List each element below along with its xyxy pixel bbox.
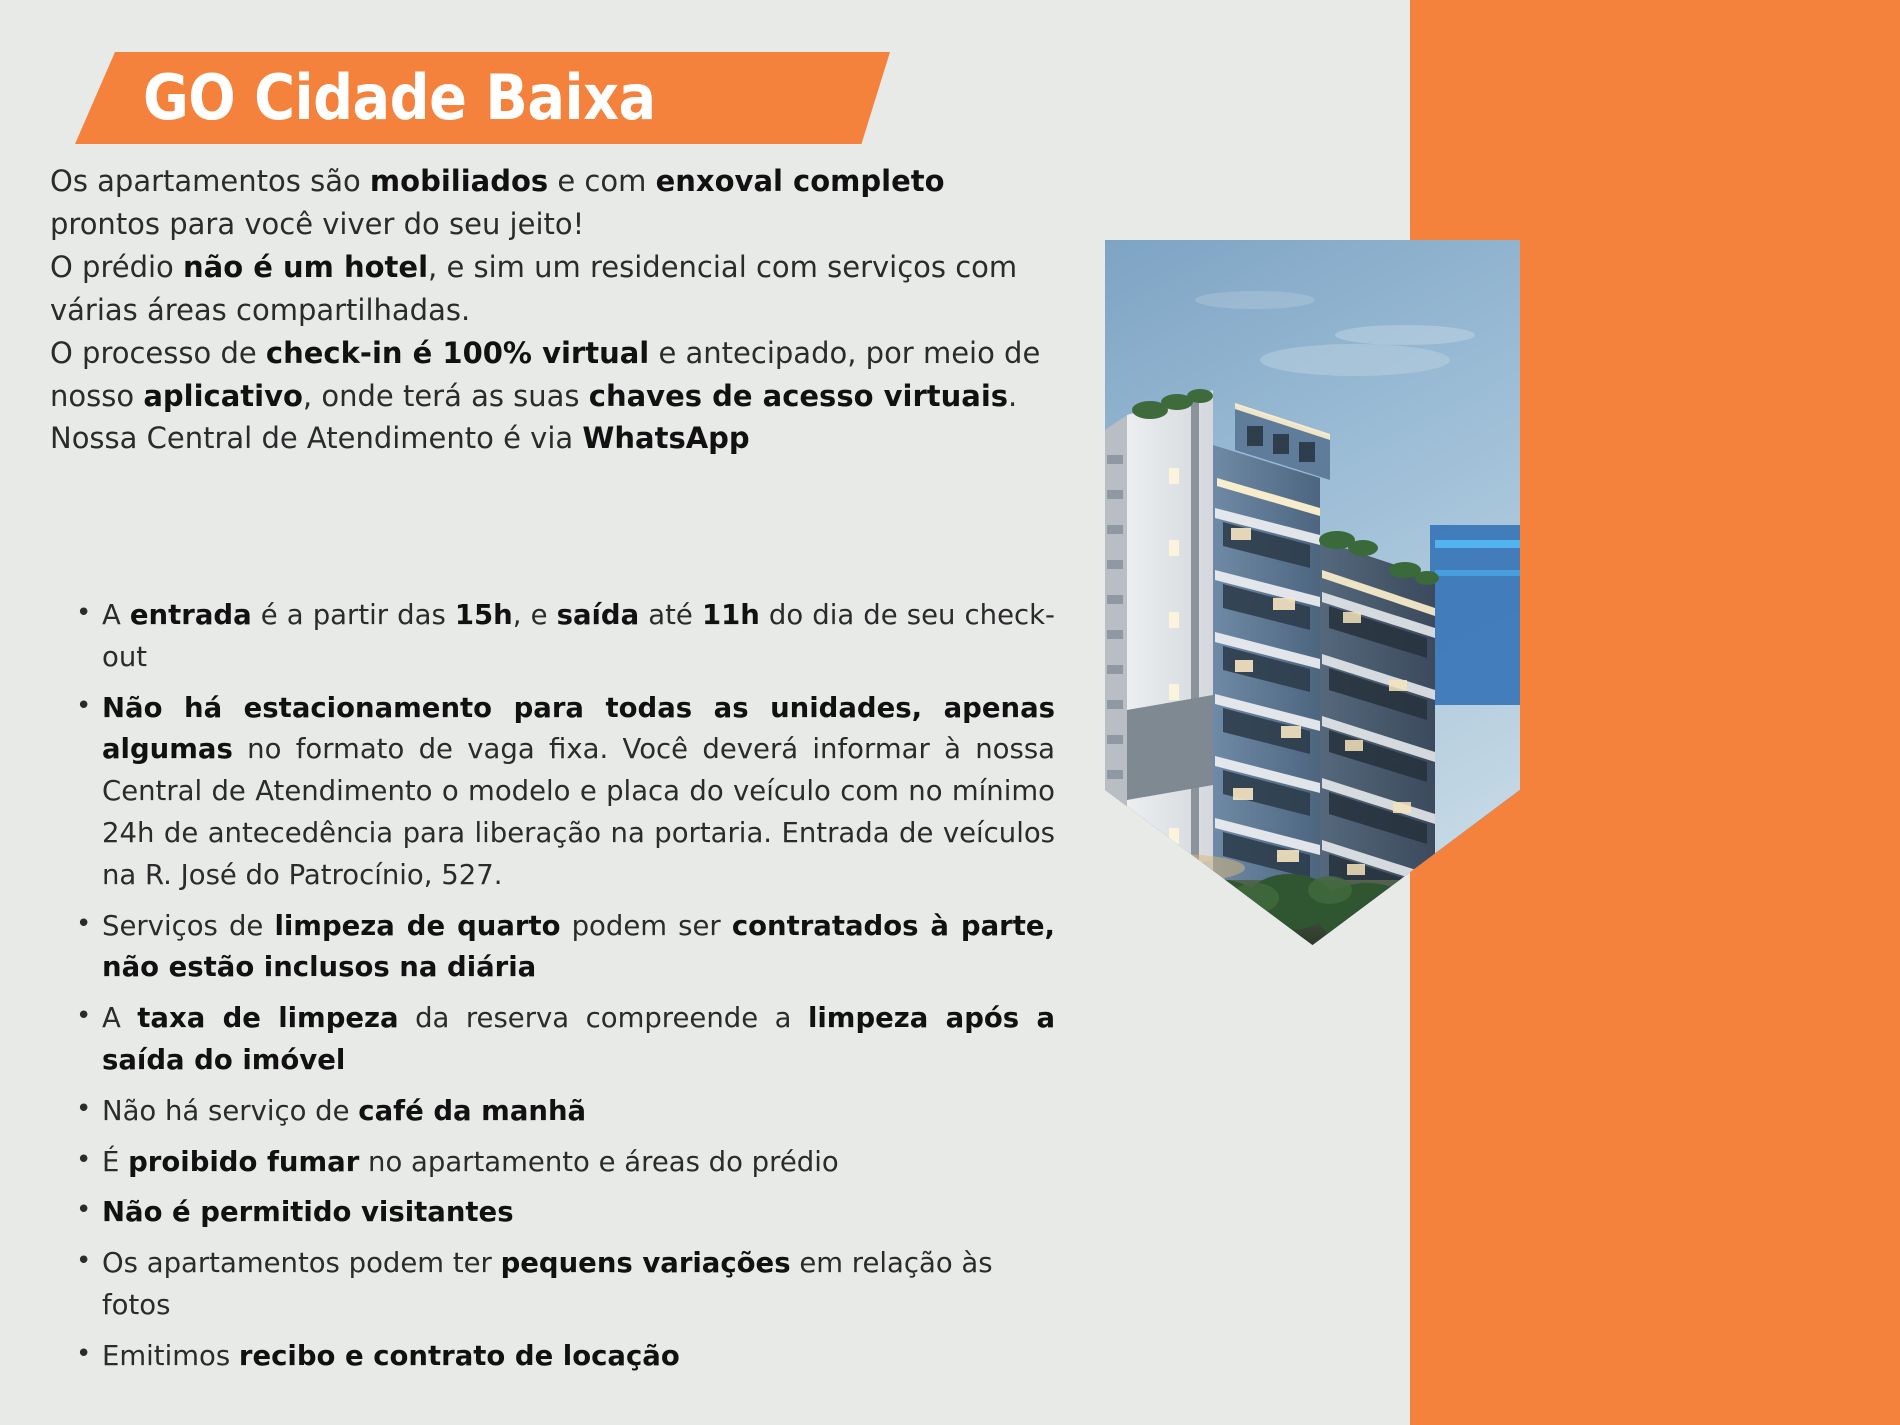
rules-list: A entrada é a partir das 15h, e saída at… (70, 595, 1055, 1387)
rule-list-item: Emitimos recibo e contrato de locação (70, 1336, 1055, 1378)
emphasis-text: chaves de acesso virtuais (589, 379, 1008, 413)
body-text: É (102, 1146, 128, 1178)
body-text: até (639, 599, 702, 631)
emphasis-text: enxoval completo (656, 164, 945, 198)
emphasis-text: WhatsApp (582, 421, 749, 455)
emphasis-text: Não é permitido visitantes (102, 1196, 514, 1228)
emphasis-text: mobiliados (370, 164, 548, 198)
rule-list-item: A entrada é a partir das 15h, e saída at… (70, 595, 1055, 679)
emphasis-text: proibido fumar (128, 1146, 359, 1178)
emphasis-text: não é um hotel (183, 250, 428, 284)
emphasis-text: pequens variações (501, 1247, 791, 1279)
emphasis-text: 15h (455, 599, 513, 631)
body-text: é a partir das (252, 599, 455, 631)
body-text: Emitimos (102, 1340, 239, 1372)
emphasis-text: entrada (130, 599, 252, 631)
body-text: e com (548, 164, 655, 198)
emphasis-text: check-in é 100% virtual (266, 336, 649, 370)
rule-list-item: É proibido fumar no apartamento e áreas … (70, 1142, 1055, 1184)
body-text: A (102, 1002, 137, 1034)
intro-text-block: Os apartamentos são mobiliados e com enx… (50, 160, 1050, 460)
body-text: A (102, 599, 130, 631)
body-text: O prédio (50, 250, 183, 284)
body-text: no apartamento e áreas do prédio (359, 1146, 838, 1178)
body-text: , e (513, 599, 557, 631)
body-text: Os apartamentos são (50, 164, 370, 198)
emphasis-text: recibo e contrato de locação (239, 1340, 680, 1372)
intro-paragraph: Os apartamentos são mobiliados e com enx… (50, 160, 1050, 246)
body-text: O processo de (50, 336, 266, 370)
poster-page: GO Cidade Baixa Os apartamentos são mobi… (0, 0, 1900, 1425)
intro-paragraph: O processo de check-in é 100% virtual e … (50, 332, 1050, 418)
body-text: Serviços de (102, 910, 274, 942)
emphasis-text: taxa de limpeza (137, 1002, 398, 1034)
emphasis-text: 11h (702, 599, 760, 631)
body-text: Nossa Central de Atendimento é via (50, 421, 582, 455)
rule-list-item: Serviços de limpeza de quarto podem ser … (70, 906, 1055, 990)
body-text: prontos para você viver do seu jeito! (50, 207, 584, 241)
body-text: , onde terá as suas (303, 379, 589, 413)
rule-list-item: Não é permitido visitantes (70, 1192, 1055, 1234)
body-text: no formato de vaga fixa. Você deverá inf… (102, 733, 1055, 890)
emphasis-text: aplicativo (143, 379, 303, 413)
emphasis-text: saída (557, 599, 640, 631)
intro-paragraph: O prédio não é um hotel, e sim um reside… (50, 246, 1050, 332)
rule-list-item: Os apartamentos podem ter pequens variaç… (70, 1243, 1055, 1327)
intro-paragraph: Nossa Central de Atendimento é via Whats… (50, 417, 1050, 460)
rule-list-item: Não há serviço de café da manhã (70, 1091, 1055, 1133)
body-text: da reserva compreende a (399, 1002, 808, 1034)
body-text: Não há serviço de (102, 1095, 358, 1127)
body-text: Os apartamentos podem ter (102, 1247, 501, 1279)
rule-list-item: A taxa de limpeza da reserva compreende … (70, 998, 1055, 1082)
body-text: . (1008, 379, 1017, 413)
rule-list-item: Não há estacionamento para todas as unid… (70, 688, 1055, 897)
emphasis-text: limpeza de quarto (274, 910, 560, 942)
page-title: GO Cidade Baixa (143, 67, 656, 129)
body-text: podem ser (561, 910, 732, 942)
emphasis-text: café da manhã (358, 1095, 586, 1127)
header-banner: GO Cidade Baixa (75, 52, 890, 144)
